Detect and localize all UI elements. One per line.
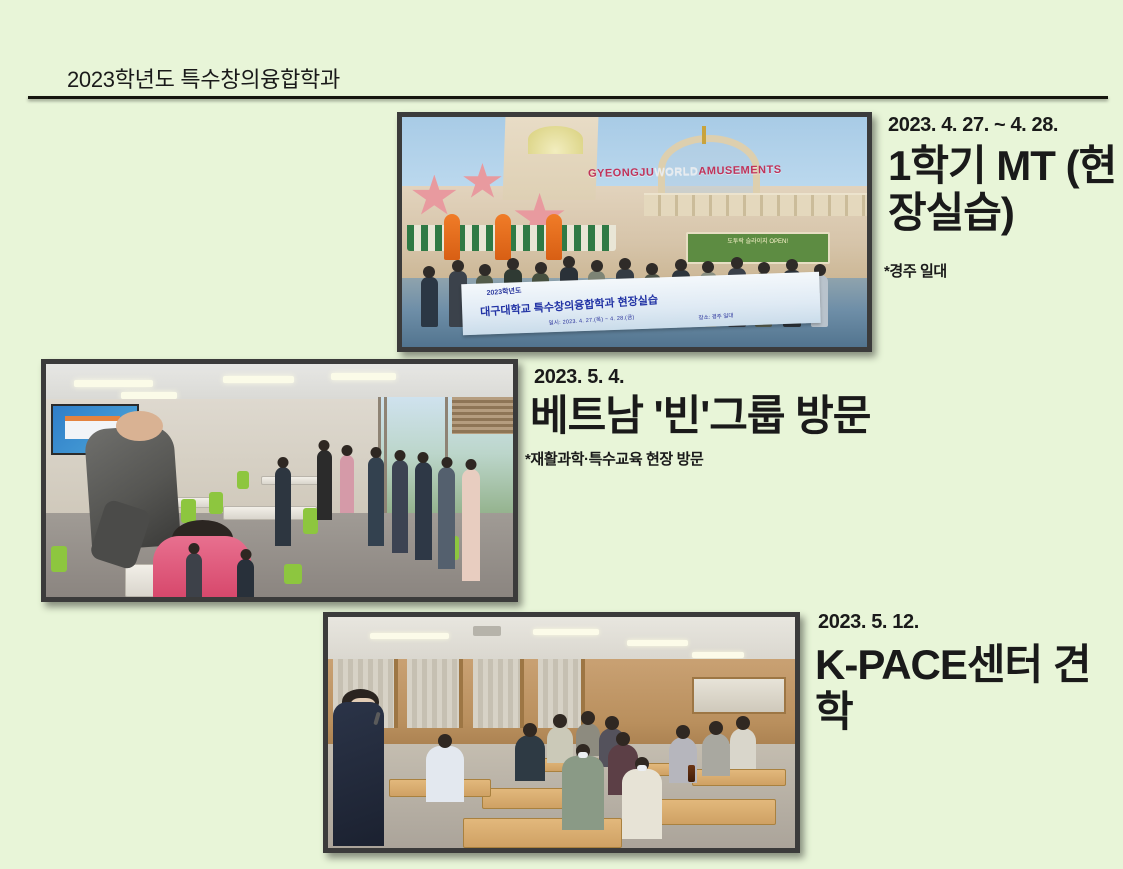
park-dome: [528, 126, 584, 154]
window-frame: [384, 397, 387, 523]
banner-line-4: 장소: 경주 일대: [699, 312, 734, 322]
ceiling-light: [370, 633, 449, 639]
student: [730, 728, 756, 770]
entry-title-kpace: K-PACE센터 견학: [815, 641, 1115, 735]
kpace-center-tour-photo: [323, 612, 800, 853]
person-head: [786, 259, 798, 271]
student: [622, 769, 662, 838]
drink-bottle: [688, 765, 695, 782]
balustrade: [644, 193, 867, 216]
chair: [181, 499, 196, 523]
person-head: [563, 256, 575, 268]
professor-head: [116, 411, 163, 441]
person-head: [736, 716, 750, 730]
entry-date-vin: 2023. 5. 4.: [534, 366, 624, 389]
face-mask: [637, 765, 647, 771]
arch-finial: [702, 126, 706, 144]
entry-note-vin: *재활과학·특수교육 현장 방문: [525, 448, 703, 469]
chair: [284, 564, 302, 584]
seated-person: [275, 467, 291, 546]
vin-group-visit-photo: [41, 359, 518, 602]
person-head: [758, 262, 770, 274]
entry-date-kpace: 2023. 5. 12.: [818, 611, 919, 634]
window-blind: [452, 397, 513, 434]
face-mask: [578, 752, 588, 758]
projector: [473, 626, 501, 636]
student: [426, 746, 464, 801]
person-head: [507, 258, 519, 270]
person-head: [702, 261, 714, 273]
window-curtain: [473, 659, 524, 728]
ceiling-light: [223, 376, 293, 383]
entry-note-mt: *경주 일대: [884, 260, 947, 281]
ceiling-light: [692, 652, 743, 658]
title-divider: [28, 96, 1108, 99]
person-head: [616, 732, 630, 746]
seated-person: [317, 450, 332, 520]
person-head: [240, 549, 251, 560]
seated-person: [392, 460, 408, 553]
chair: [303, 508, 318, 534]
person-head: [605, 716, 619, 730]
ceiling-light: [533, 629, 598, 635]
person-head: [619, 258, 631, 270]
person-head: [394, 450, 405, 461]
person-head: [581, 711, 595, 725]
person-head: [591, 260, 603, 272]
storage-cabinet: [692, 677, 785, 714]
entry-date-mt: 2023. 4. 27. ~ 4. 28.: [888, 114, 1058, 137]
seated-person: [186, 553, 202, 597]
person-head: [676, 725, 690, 739]
ceiling-light: [627, 640, 688, 646]
ceiling-light: [331, 373, 396, 380]
banner-line-3: 일시: 2023. 4. 27.(목) ~ 4. 28.(금): [549, 313, 635, 327]
photo-content-kpace: [328, 617, 795, 848]
person-head: [423, 266, 435, 278]
person-head: [371, 447, 382, 458]
window-curtain: [407, 659, 463, 728]
person-head: [535, 262, 547, 274]
person-head: [438, 734, 452, 748]
chair: [237, 471, 249, 489]
person-head: [452, 260, 464, 272]
person-head: [342, 445, 353, 456]
person-head: [441, 457, 452, 468]
student: [515, 735, 545, 781]
person-head: [277, 457, 288, 468]
person-head: [709, 721, 723, 735]
ceiling-light: [74, 380, 153, 387]
person-head: [418, 452, 429, 463]
chair: [209, 492, 223, 514]
photo-content-mt: GYEONGJU WORLD AMUSEMENTS 도투락 슬라이지 OPEN!: [402, 117, 867, 347]
seated-person: [415, 462, 432, 560]
student: [702, 733, 730, 777]
seated-person: [438, 467, 455, 570]
banner-line-1: 2023학년도: [487, 286, 523, 298]
entry-title-mt: 1학기 MT (현장실습): [888, 142, 1118, 236]
person-head: [465, 459, 476, 470]
desk: [261, 476, 322, 485]
page-title: 2023학년도 특수창의융합학과: [67, 62, 340, 94]
chair: [51, 546, 67, 572]
person-head: [479, 264, 491, 276]
seated-person: [368, 457, 384, 546]
entry-title-vin: 베트남 '빈'그룹 방문: [530, 392, 870, 439]
seated-person: [237, 559, 254, 597]
person-head: [553, 714, 567, 728]
person-head: [675, 259, 687, 271]
person-head: [523, 723, 537, 737]
person-head: [189, 543, 200, 554]
mt-field-practice-photo: GYEONGJU WORLD AMUSEMENTS 도투락 슬라이지 OPEN!: [397, 112, 872, 352]
ceiling-light: [121, 392, 177, 399]
person-head: [646, 263, 658, 275]
photo-content-vin: [46, 364, 513, 597]
seated-person: [462, 469, 480, 581]
seated-person: [340, 455, 354, 513]
person-head: [731, 257, 743, 269]
person-head: [319, 440, 330, 451]
student: [562, 756, 604, 830]
